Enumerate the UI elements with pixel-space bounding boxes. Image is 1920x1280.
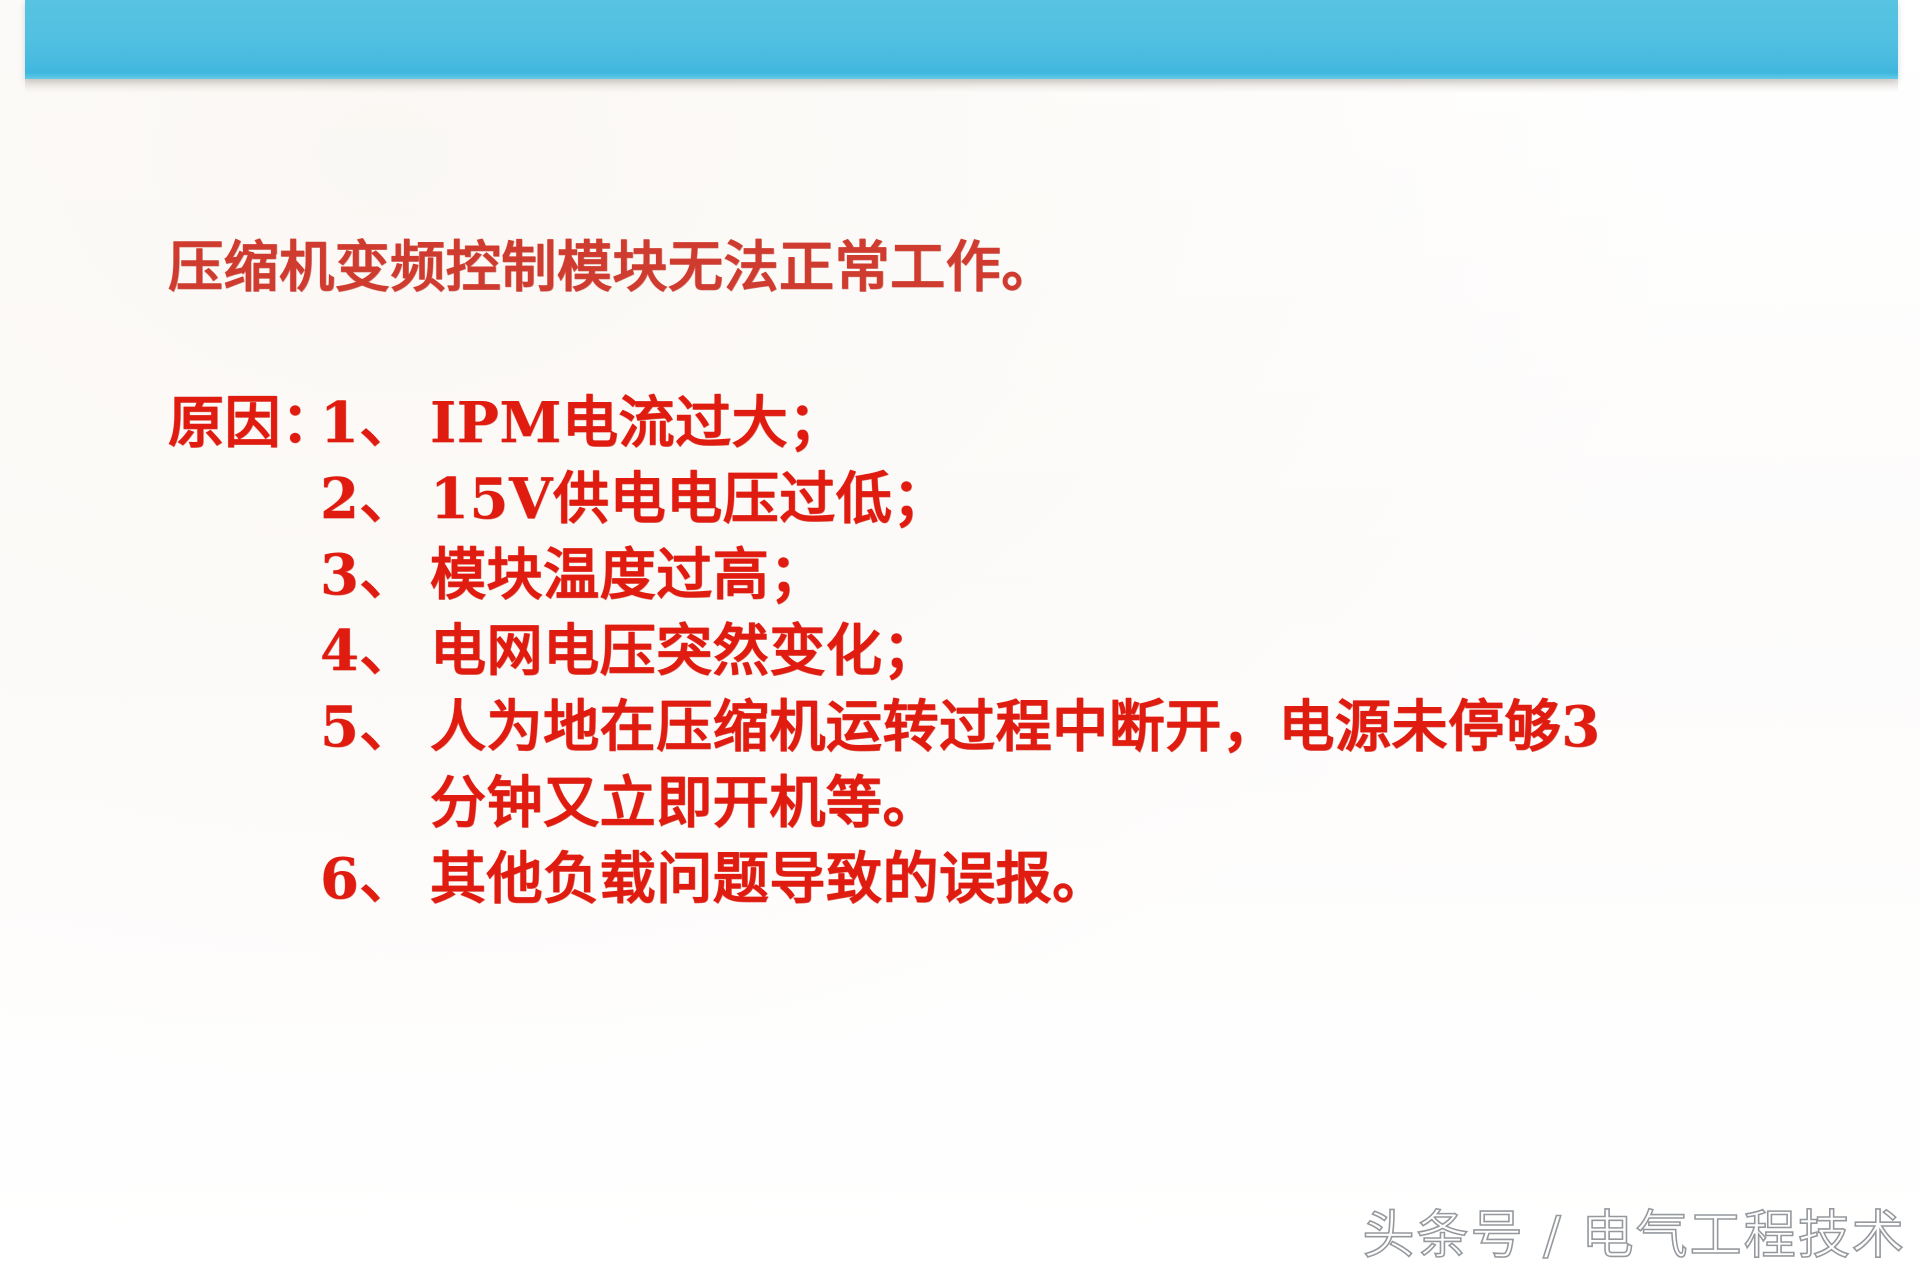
list-item: 原因：1、IPM电流过大；	[168, 385, 1601, 461]
list-item-text: 15V供电电压过低；	[430, 461, 949, 537]
list-item-number: 5、	[320, 689, 430, 765]
list-item: 4、电网电压突然变化；	[168, 613, 1601, 689]
watermark: 头条号 / 电气工程技术	[1362, 1206, 1906, 1266]
slide-title: 压缩机变频控制模块无法正常工作。	[168, 237, 1057, 297]
list-item-number: 6、	[320, 841, 430, 917]
slide-canvas: 压缩机变频控制模块无法正常工作。 原因：1、IPM电流过大； 2、15V供电电压…	[0, 0, 1920, 1280]
list-item-continuation: 分钟又立即开机等。	[168, 765, 1601, 841]
list-item-text: IPM电流过大；	[430, 385, 845, 461]
list-item-number: 3、	[320, 537, 430, 613]
list-item-number: 2、	[320, 461, 430, 537]
list-item-number: 4、	[320, 613, 430, 689]
list-item-number: 1、	[320, 385, 430, 461]
slide-content: 压缩机变频控制模块无法正常工作。 原因：1、IPM电流过大； 2、15V供电电压…	[0, 0, 1920, 1280]
list-item-text: 分钟又立即开机等。	[430, 765, 939, 841]
list-item: 6、其他负载问题导致的误报。	[168, 841, 1601, 917]
reason-label: 原因：	[168, 385, 320, 461]
list-item-text: 其他负载问题导致的误报。	[430, 841, 1109, 917]
list-item: 3、模块温度过高；	[168, 537, 1601, 613]
list-item: 2、15V供电电压过低；	[168, 461, 1601, 537]
list-item: 5、人为地在压缩机运转过程中断开，电源未停够3	[168, 689, 1601, 765]
list-item-text: 电网电压突然变化；	[430, 613, 939, 689]
list-item-text: 模块温度过高；	[430, 537, 826, 613]
list-item-text: 人为地在压缩机运转过程中断开，电源未停够3	[430, 689, 1601, 765]
reason-list: 原因：1、IPM电流过大； 2、15V供电电压过低； 3、模块温度过高； 4、电…	[168, 385, 1601, 917]
